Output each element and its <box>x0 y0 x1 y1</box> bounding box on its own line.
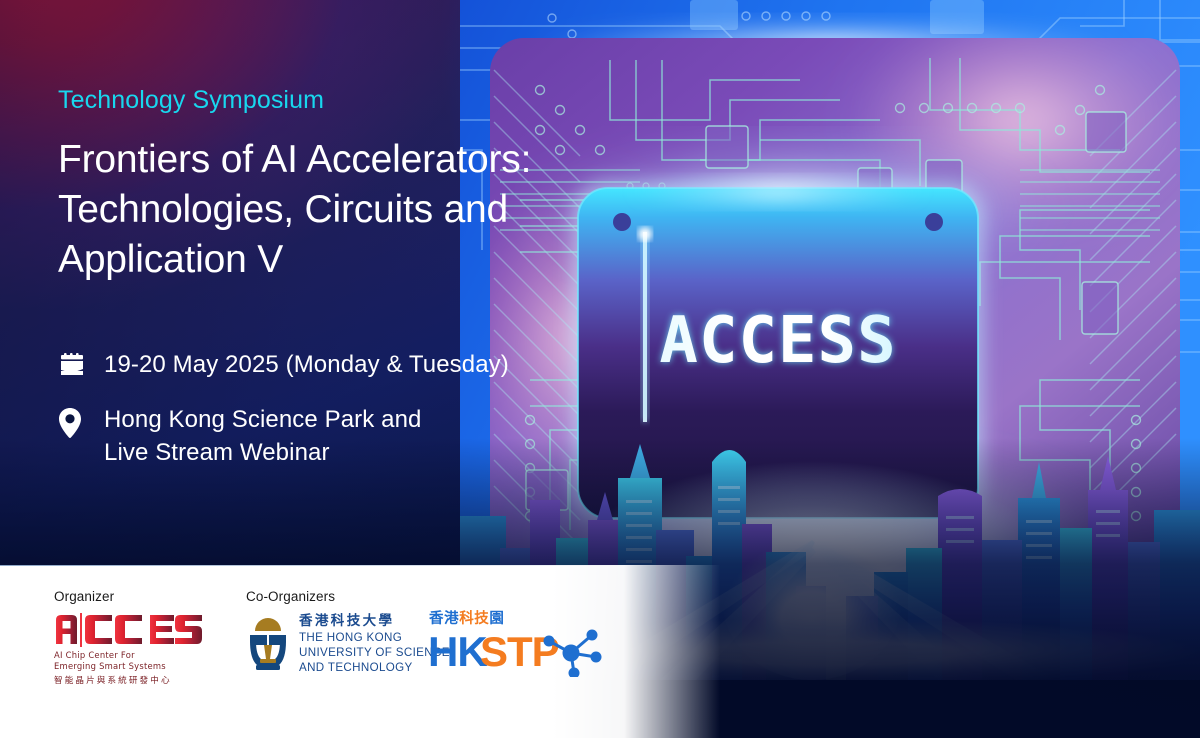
hkstp-mark-hk: HK <box>428 629 487 675</box>
location-pin-icon <box>58 403 104 438</box>
event-venue-line-2: Live Stream Webinar <box>104 436 421 469</box>
hkust-logo: 香港科技大學 THE HONG KONG UNIVERSITY OF SCIEN… <box>246 613 450 675</box>
hkstp-name-cn: 香港科技園 <box>429 607 618 628</box>
access-divider-bar <box>80 613 82 647</box>
event-venue: Hong Kong Science Park and Live Stream W… <box>104 403 421 469</box>
organizer-label: Organizer <box>54 589 214 604</box>
hkstp-name-cn-blue2: 園 <box>489 611 504 627</box>
chip-dot-right <box>925 213 943 231</box>
hkust-emblem-icon <box>246 615 290 673</box>
co-organizers-group: Co-Organizers 香港科技大學 THE HONG KONG UNIVE… <box>246 589 450 675</box>
organizer-tagline: AI Chip Center For Emerging Smart System… <box>54 650 214 672</box>
event-venue-row: Hong Kong Science Park and Live Stream W… <box>58 403 618 469</box>
organizer-group: Organizer <box>54 589 214 686</box>
event-date-row: 19-20 May 2025 (Monday & Tuesday) <box>58 348 618 381</box>
access-logo: AI Chip Center For Emerging Smart System… <box>54 613 214 686</box>
event-title-line-2: Technologies, Circuits and <box>58 185 618 235</box>
organizer-tagline-line-1: AI Chip Center For <box>54 650 214 661</box>
headline-block: Technology Symposium Frontiers of AI Acc… <box>58 86 618 285</box>
svg-text:ACCESS: ACCESS <box>659 304 896 378</box>
footer-divider <box>0 565 640 566</box>
chip-wordmark-access: ACCESS ACCESS <box>659 304 896 378</box>
event-title: Frontiers of AI Accelerators: Technologi… <box>58 135 618 285</box>
hkstp-name-cn-orange: 科技 <box>459 611 489 627</box>
hkstp-mark-stp: STP <box>480 629 559 675</box>
event-banner: ACCESS ACCESS <box>0 0 1200 738</box>
event-title-line-1: Frontiers of AI Accelerators: <box>58 135 618 185</box>
event-title-line-3: Application V <box>58 235 618 285</box>
hkstp-name-cn-blue: 香港 <box>429 611 459 627</box>
access-wordmark-icon <box>54 613 214 647</box>
event-details-block: 19-20 May 2025 (Monday & Tuesday) Hong K… <box>58 348 618 491</box>
event-venue-line-1: Hong Kong Science Park and <box>104 403 421 436</box>
hkstp-logo: 香港科技園 HK STP <box>428 607 618 682</box>
hkstp-wordmark-icon: HK STP <box>428 629 618 677</box>
event-eyebrow: Technology Symposium <box>58 86 618 115</box>
calendar-icon <box>58 348 104 379</box>
organizer-tagline-line-2: Emerging Smart Systems <box>54 661 214 672</box>
event-date: 19-20 May 2025 (Monday & Tuesday) <box>104 348 509 381</box>
co-organizers-label: Co-Organizers <box>246 589 450 604</box>
footer-bar: Organizer <box>0 565 1200 738</box>
organizer-tagline-cn: 智能晶片與系統研發中心 <box>54 674 214 686</box>
